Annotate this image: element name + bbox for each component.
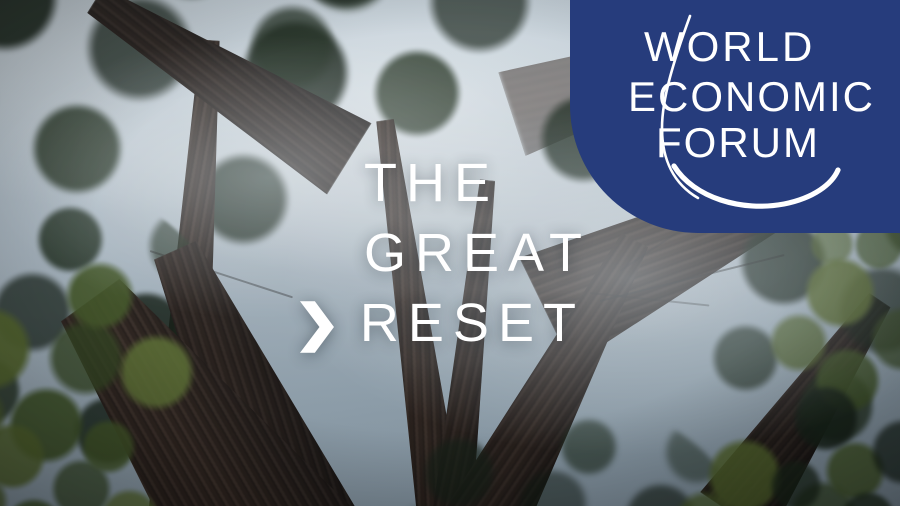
chevron-right-icon: ❯ [293,288,341,358]
title-line-reset: ❯RESET [296,288,591,358]
thumbnail-canvas: THE GREAT ❯RESET WORLD ECONOMIC FORUM [0,0,900,506]
wef-word-world: WORLD [644,26,815,68]
wef-brand-panel: WORLD ECONOMIC FORUM [570,0,900,233]
title-reset-word: RESET [360,293,585,353]
title-block: THE GREAT ❯RESET [296,148,591,358]
title-line-great: GREAT [296,218,591,288]
wef-word-economic: ECONOMIC [628,76,875,118]
wef-word-forum: FORUM [656,122,820,164]
title-line-the: THE [296,148,591,218]
wef-logo: WORLD ECONOMIC FORUM [570,0,900,233]
